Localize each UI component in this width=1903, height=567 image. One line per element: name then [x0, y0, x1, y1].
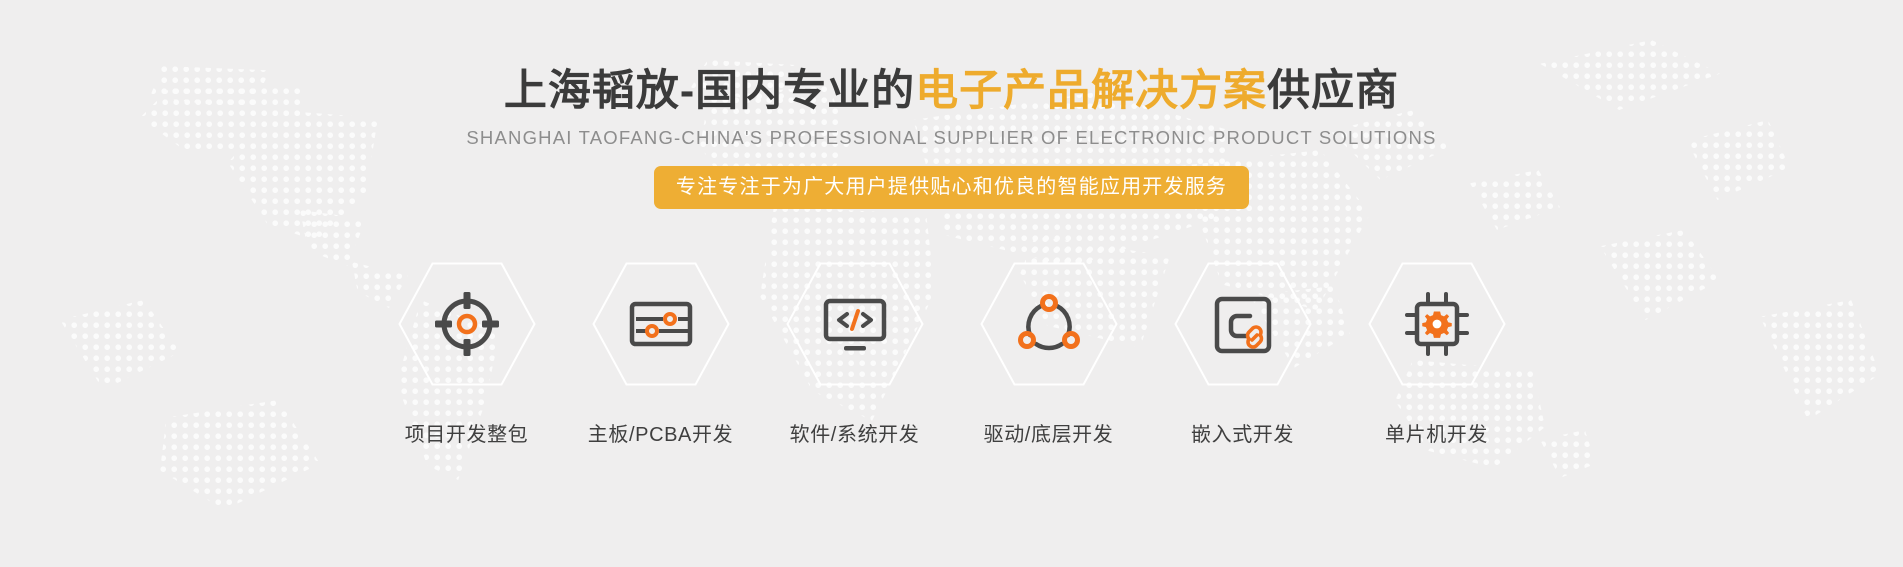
service-label: 单片机开发 [1385, 422, 1488, 448]
hexagon-frame [1174, 262, 1312, 386]
headline-highlight: 电子产品解决方案 [915, 67, 1267, 115]
crosshair-target-icon [432, 289, 502, 359]
hexagon-frame [980, 262, 1118, 386]
service-item-pcba[interactable]: 主板/PCBA开发 [580, 262, 741, 448]
monitor-code-icon [820, 289, 890, 359]
hexagon-frame [592, 262, 730, 386]
hero-text-block: 上海韬放-国内专业的电子产品解决方案供应商 SHANGHAI TAOFANG-C… [0, 66, 1903, 209]
hero-banner: 上海韬放-国内专业的电子产品解决方案供应商 SHANGHAI TAOFANG-C… [0, 0, 1903, 567]
service-label: 驱动/底层开发 [984, 422, 1114, 448]
microcontroller-gear-icon [1402, 289, 1472, 359]
hexagon-frame [1368, 262, 1506, 386]
service-label: 软件/系统开发 [790, 422, 920, 448]
service-item-driver-lowlevel[interactable]: 驱动/底层开发 [968, 262, 1129, 448]
tagline-wrapper: 专注专注于为广大用户提供贴心和优良的智能应用开发服务 [0, 166, 1903, 209]
hexagon-frame [398, 262, 536, 386]
service-label: 项目开发整包 [405, 422, 529, 448]
service-item-software-system[interactable]: 软件/系统开发 [774, 262, 935, 448]
service-item-project-package[interactable]: 项目开发整包 [386, 262, 547, 448]
service-item-embedded[interactable]: 嵌入式开发 [1162, 262, 1323, 448]
hexagon-frame [786, 262, 924, 386]
headline-part-3: 供应商 [1267, 67, 1399, 115]
pcb-board-icon [626, 289, 696, 359]
service-label: 嵌入式开发 [1191, 422, 1294, 448]
service-label: 主板/PCBA开发 [588, 422, 733, 448]
page-title: 上海韬放-国内专业的电子产品解决方案供应商 [0, 66, 1903, 116]
chip-link-icon [1208, 289, 1278, 359]
node-network-icon [1014, 289, 1084, 359]
headline-part-1: 上海韬放-国内专业的 [504, 67, 915, 115]
service-item-mcu[interactable]: 单片机开发 [1356, 262, 1517, 448]
service-hexagon-row: 项目开发整包 主板/PCBA开发 [0, 262, 1903, 448]
tagline-badge: 专注专注于为广大用户提供贴心和优良的智能应用开发服务 [654, 166, 1249, 209]
page-subtitle: SHANGHAI TAOFANG-CHINA'S PROFESSIONAL SU… [0, 126, 1903, 150]
